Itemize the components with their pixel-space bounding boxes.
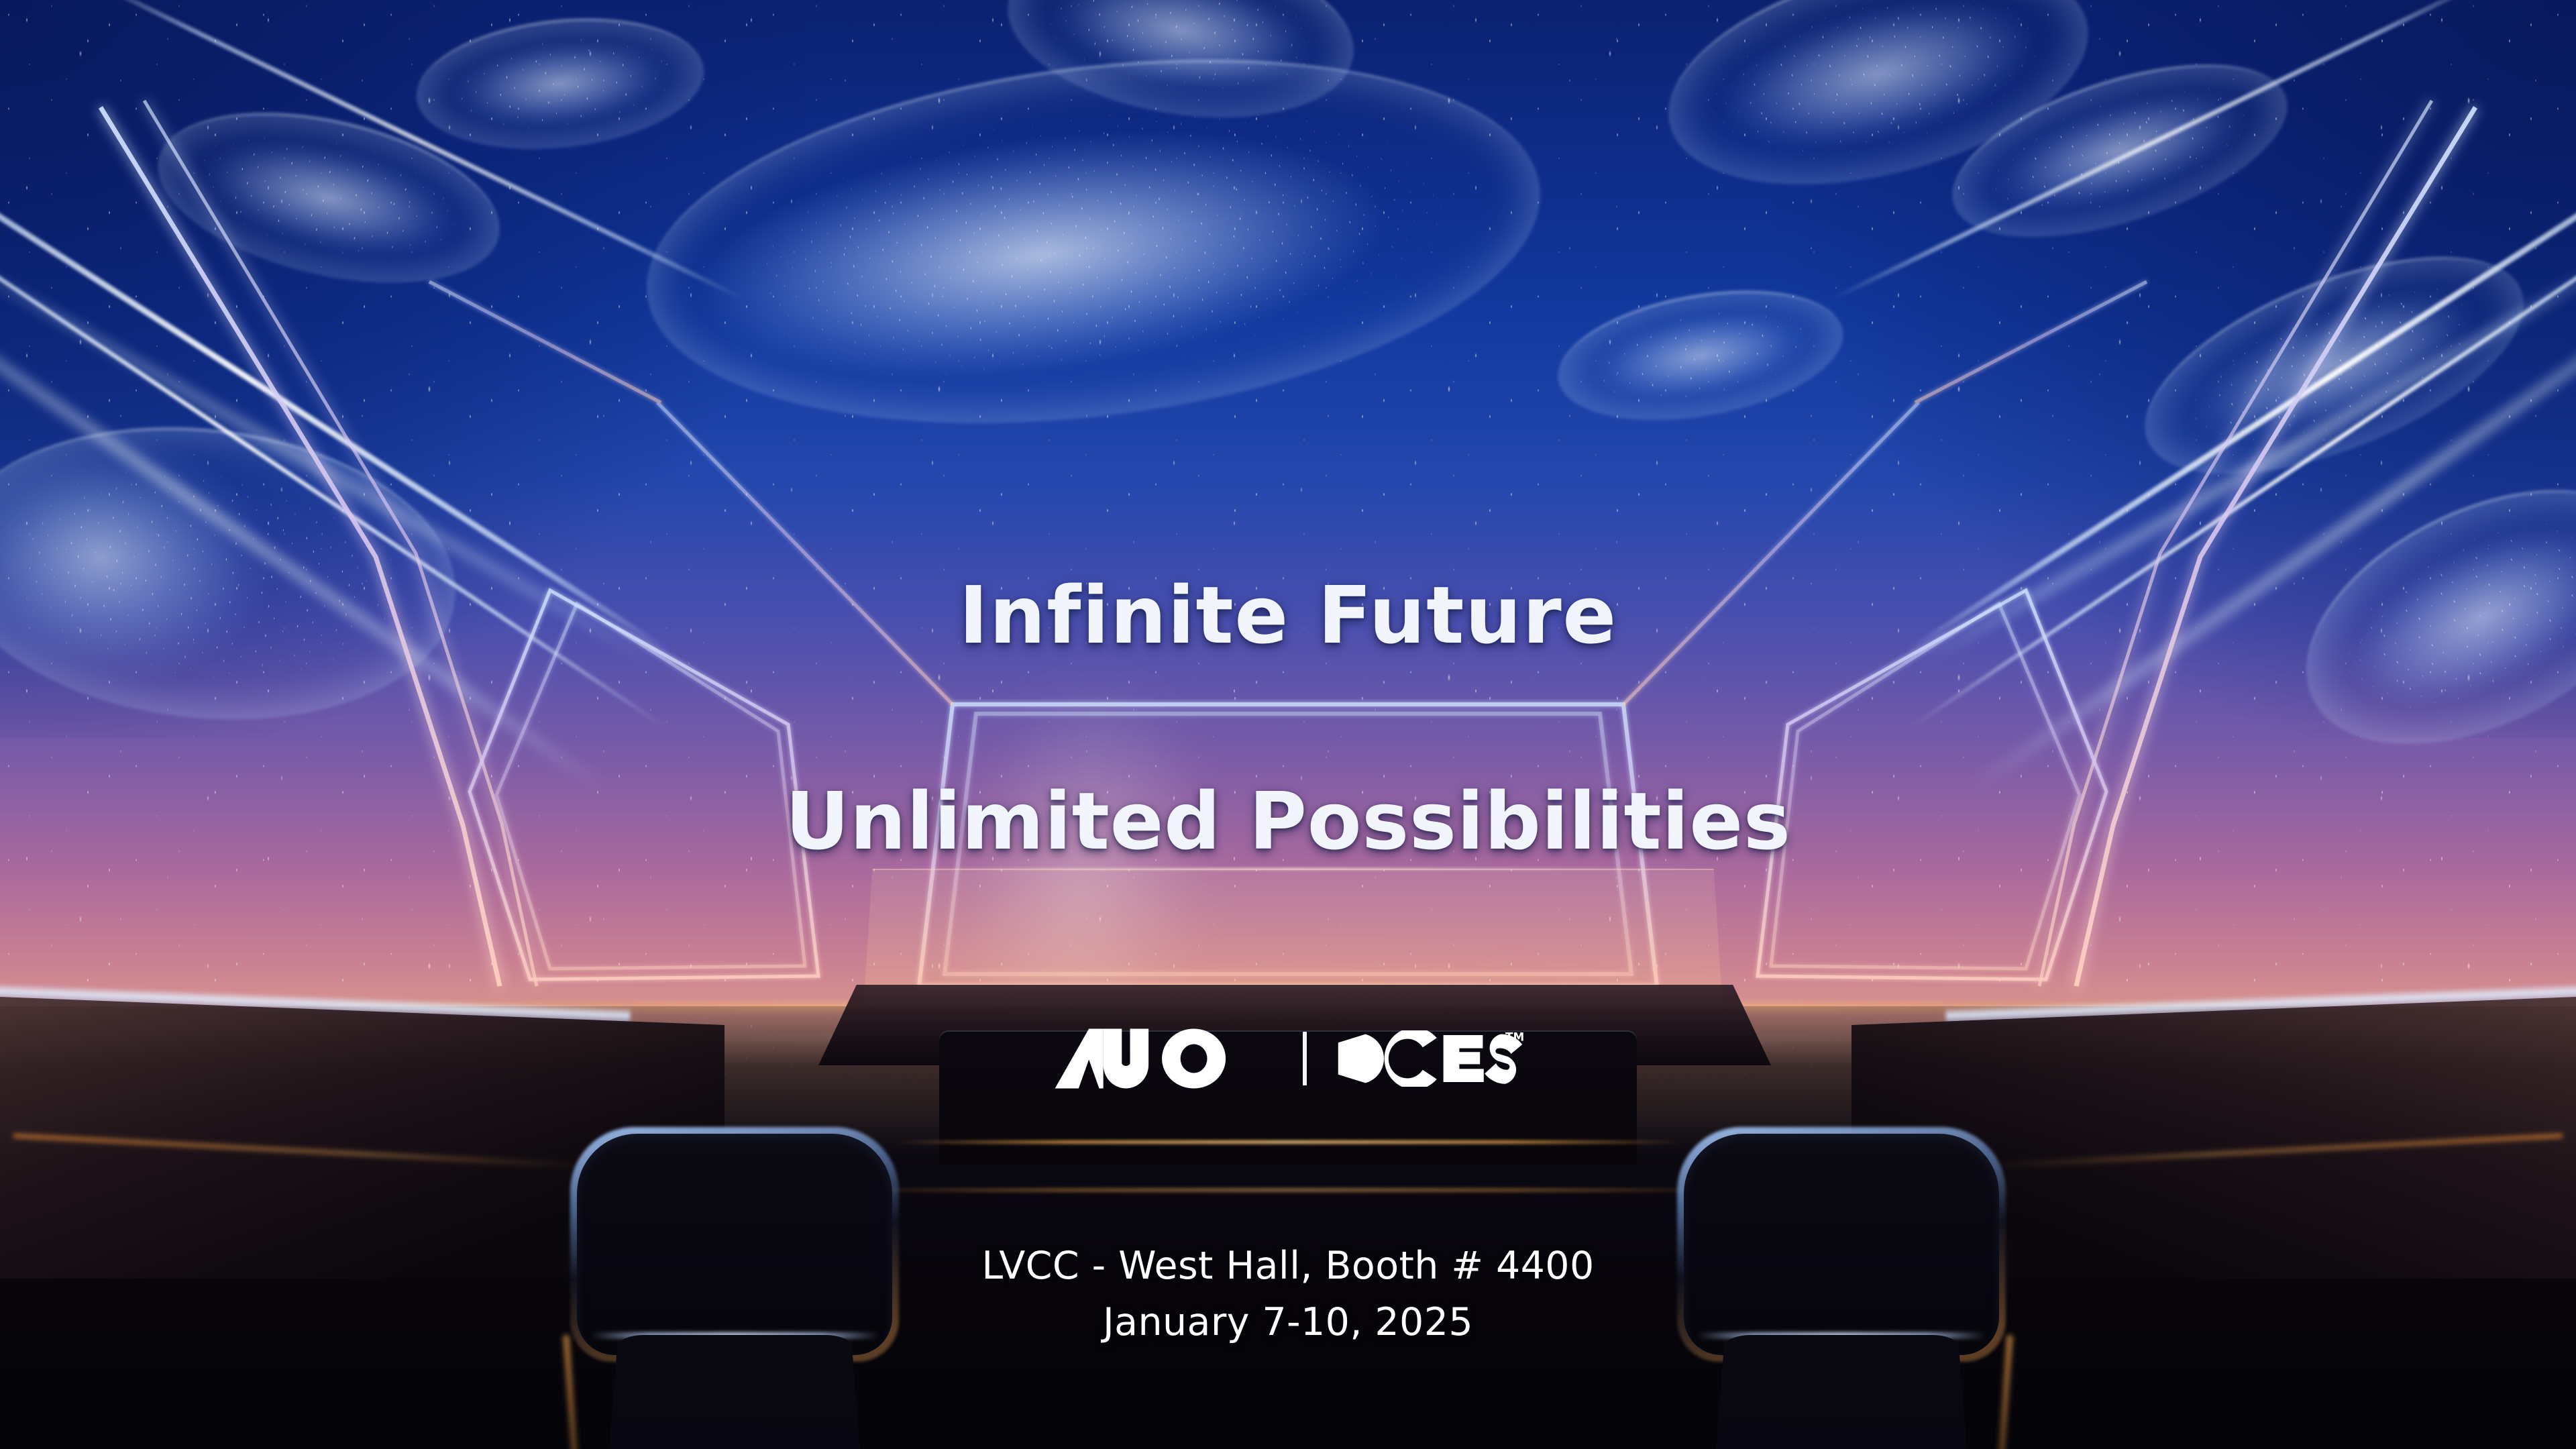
auo-logo bbox=[1052, 1028, 1273, 1089]
ces-trademark: TM bbox=[1505, 1030, 1524, 1043]
venue-booth-line: LVCC - West Hall, Booth # 4400 bbox=[0, 1238, 2576, 1294]
page-title: Infinite Future Unlimited Possibilities bbox=[0, 462, 2576, 976]
logo-divider bbox=[1303, 1032, 1307, 1085]
headline-line-1: Infinite Future bbox=[0, 564, 2576, 667]
event-date-line: January 7-10, 2025 bbox=[0, 1294, 2576, 1350]
seatback bbox=[596, 1335, 873, 1449]
key-visual-canvas: Infinite Future Unlimited Possibilities bbox=[0, 0, 2576, 1449]
ces-logo: TM bbox=[1336, 1030, 1524, 1087]
seatback bbox=[1703, 1335, 1980, 1449]
headline-line-2: Unlimited Possibilities bbox=[0, 770, 2576, 873]
console-accent-light-1 bbox=[892, 1140, 1684, 1144]
event-details: LVCC - West Hall, Booth # 4400 January 7… bbox=[0, 1238, 2576, 1351]
console-accent-light-2 bbox=[839, 1189, 1737, 1191]
logo-lockup: TM bbox=[0, 1028, 2576, 1089]
